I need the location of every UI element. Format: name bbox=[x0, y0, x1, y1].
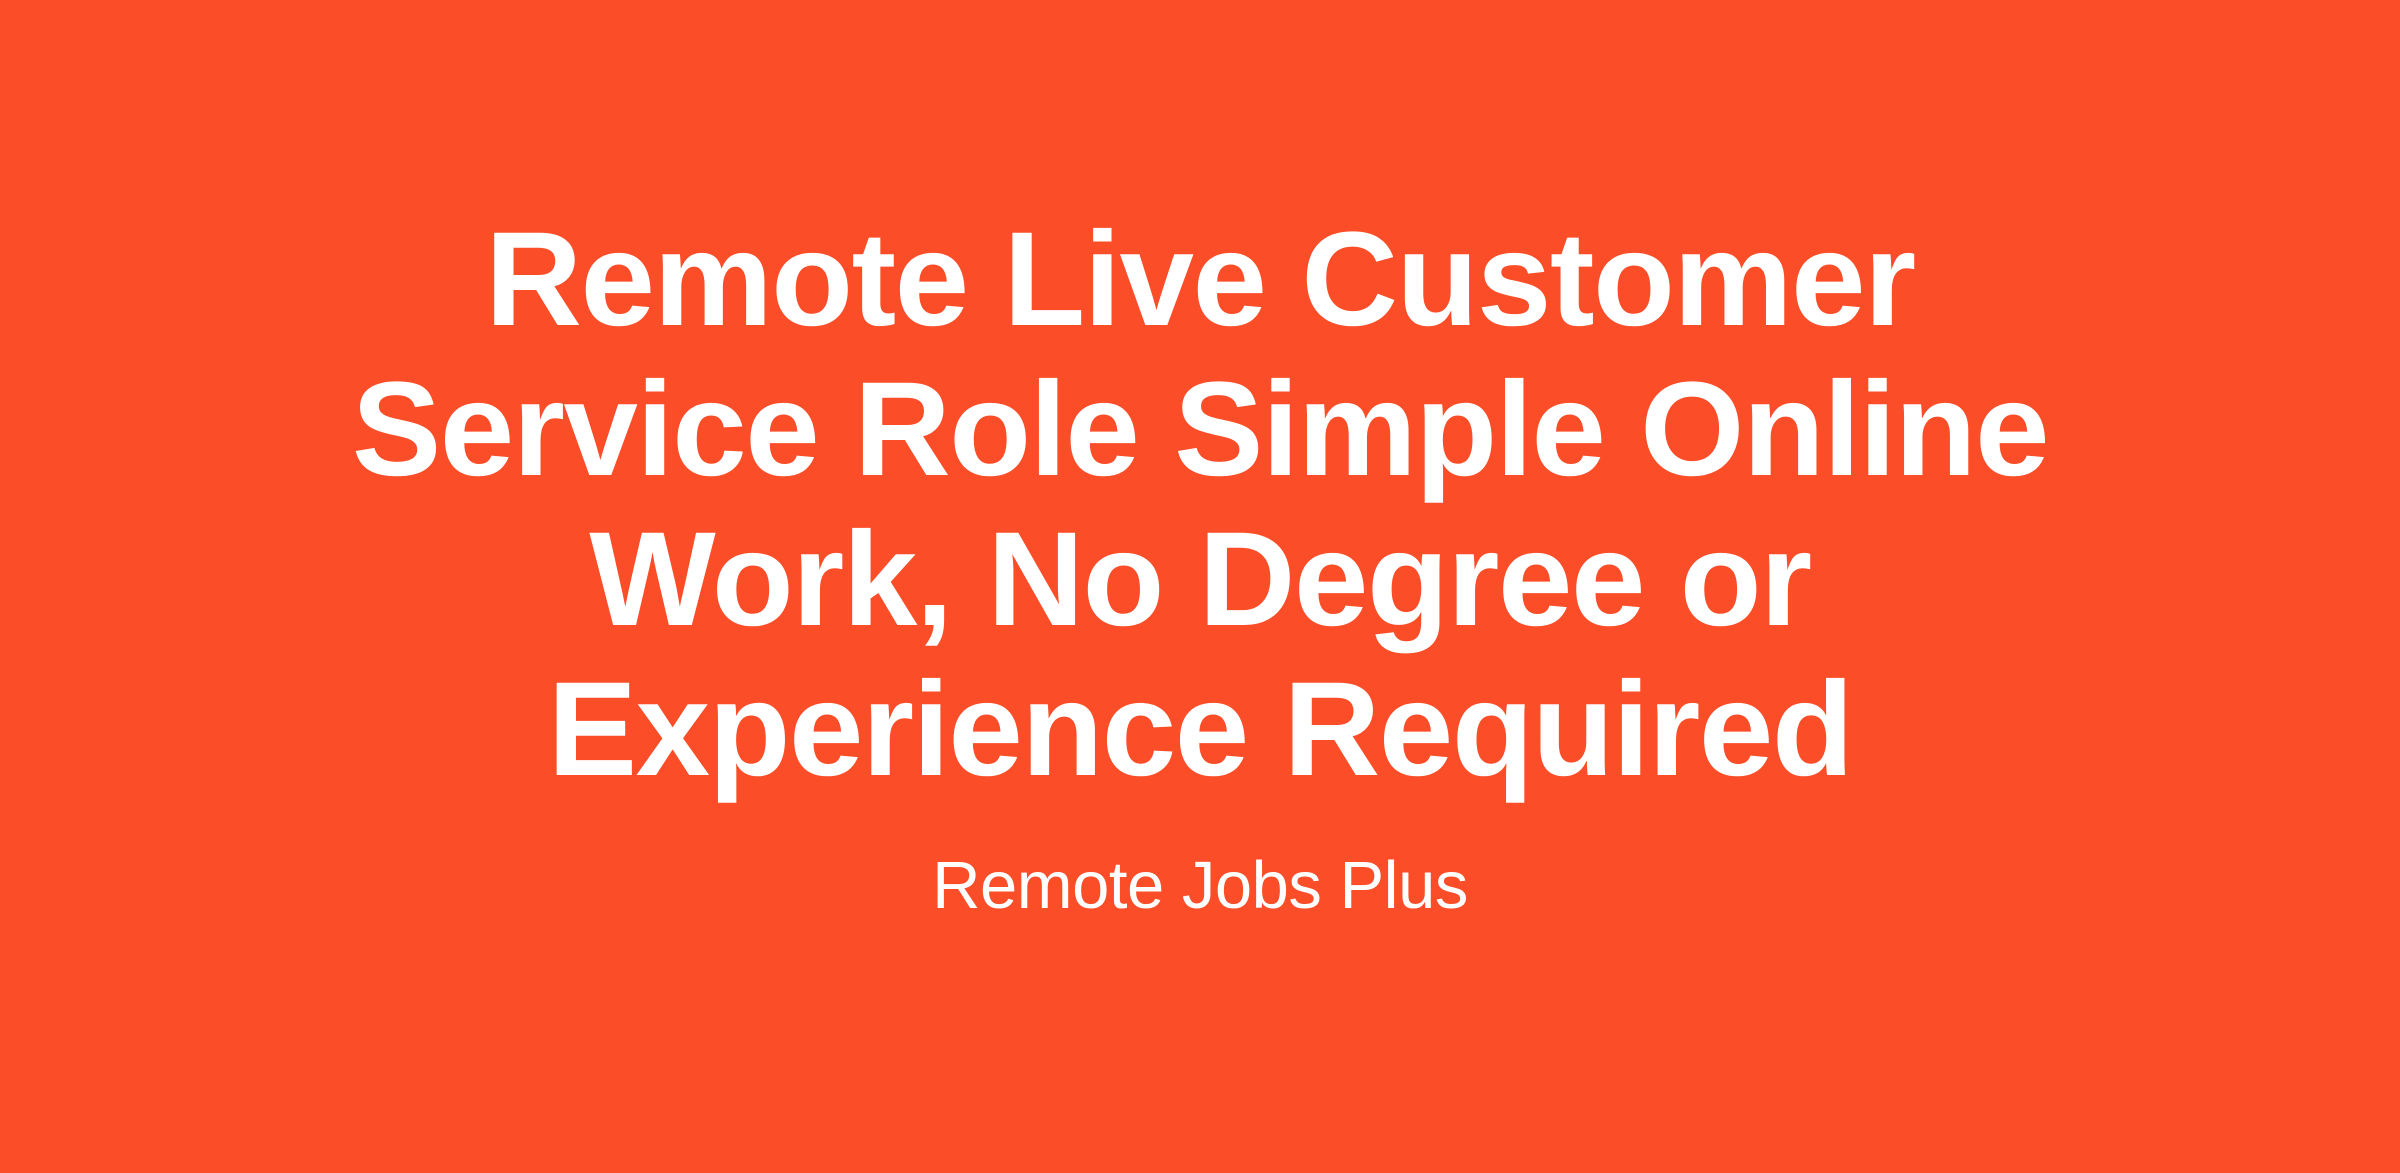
card-content: Remote Live Customer Service Role Simple… bbox=[320, 205, 2080, 925]
site-name: Remote Jobs Plus bbox=[932, 847, 1468, 925]
share-card: Remote Live Customer Service Role Simple… bbox=[0, 0, 2400, 1173]
page-title: Remote Live Customer Service Role Simple… bbox=[320, 205, 2080, 805]
